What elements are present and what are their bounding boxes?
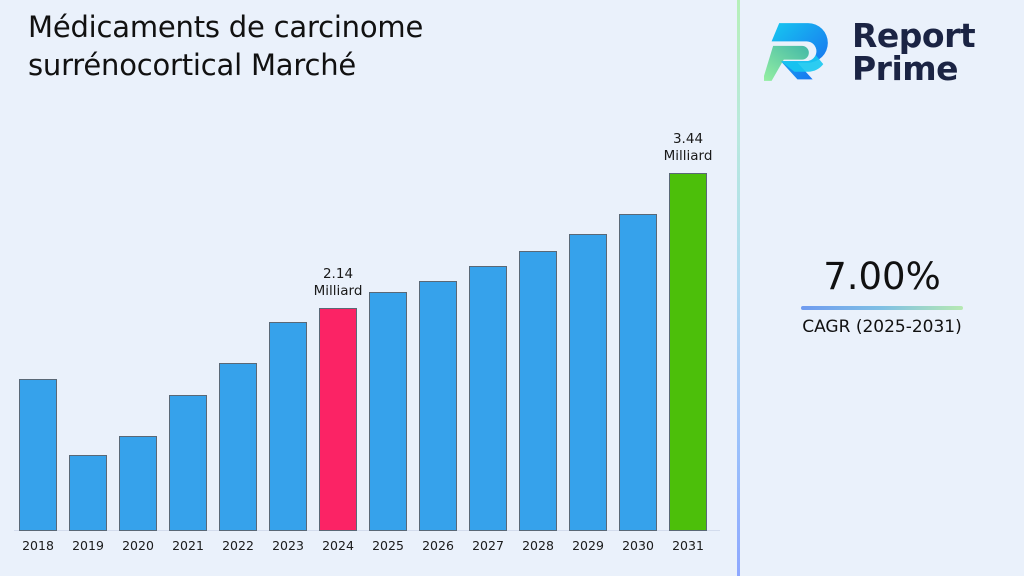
- screenshot-canvas: Médicaments de carcinome surrénocortical…: [0, 0, 1024, 576]
- bar-2031[interactable]: [669, 173, 707, 531]
- bar-2025[interactable]: [369, 292, 407, 531]
- report-prime-logo-icon: [764, 14, 840, 90]
- brand-name-line2: Prime: [852, 52, 975, 85]
- bar-2026[interactable]: [419, 281, 457, 531]
- cagr-value: 7.00%: [740, 255, 1024, 299]
- bar-2019[interactable]: [69, 455, 107, 531]
- bar-value-2031: 3.44: [642, 131, 734, 148]
- brand-name: Report Prime: [852, 19, 975, 85]
- cagr-divider: [801, 306, 963, 310]
- bar-chart-plot: 20182019202020212022202320242.14Milliard…: [0, 0, 738, 576]
- bar-2022[interactable]: [219, 363, 257, 531]
- brand-panel: Report Prime 7.00% CAGR (2025-2031): [740, 0, 1024, 576]
- bar-2023[interactable]: [269, 322, 307, 531]
- bar-2029[interactable]: [569, 234, 607, 531]
- bar-2030[interactable]: [619, 214, 657, 531]
- bar-unit-2031: Milliard: [642, 148, 734, 165]
- bar-2027[interactable]: [469, 266, 507, 531]
- brand-logo: Report Prime: [764, 14, 975, 90]
- chart-panel: Médicaments de carcinome surrénocortical…: [0, 0, 738, 576]
- bar-value-2024: 2.14: [292, 266, 384, 283]
- bar-2021[interactable]: [169, 395, 207, 532]
- x-axis-label-2031: 2031: [658, 538, 718, 553]
- bar-2020[interactable]: [119, 436, 157, 531]
- bar-2028[interactable]: [519, 251, 557, 531]
- brand-name-line1: Report: [852, 19, 975, 52]
- cagr-caption: CAGR (2025-2031): [740, 316, 1024, 338]
- bar-label-2031: 3.44Milliard: [642, 131, 734, 165]
- bar-2024[interactable]: [319, 308, 357, 531]
- cagr-block: 7.00% CAGR (2025-2031): [740, 255, 1024, 338]
- bar-2018[interactable]: [19, 379, 57, 531]
